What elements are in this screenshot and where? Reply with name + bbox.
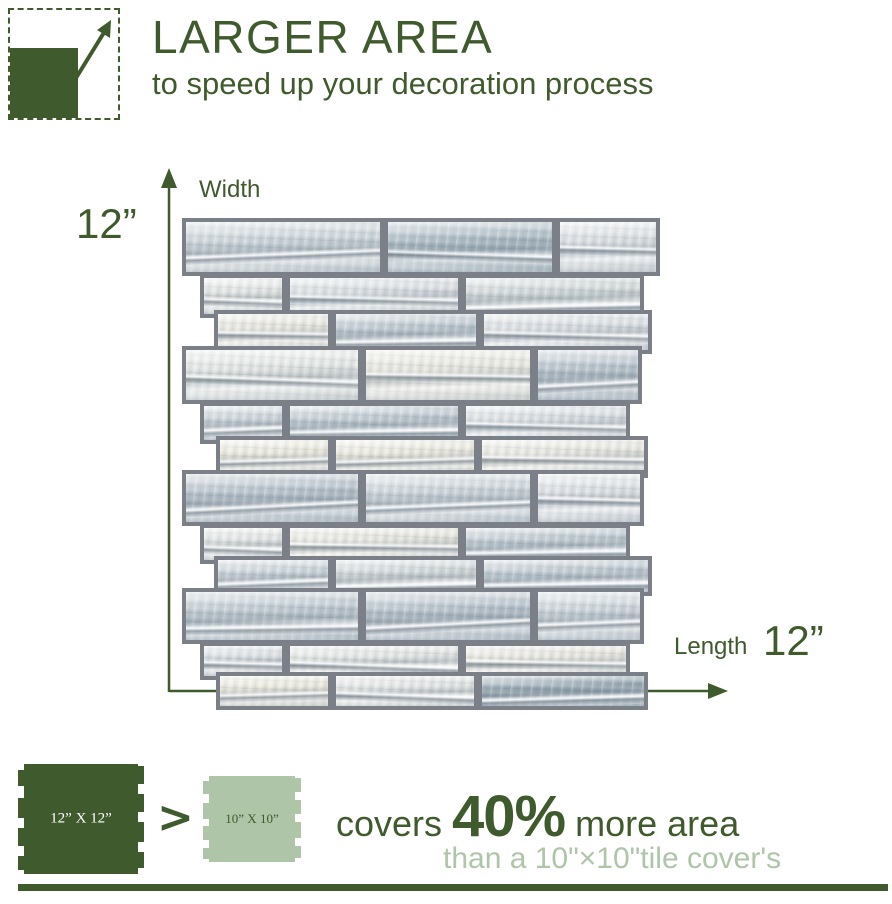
header-banner: LARGER AREA to speed up your decoration … — [0, 0, 892, 136]
dimension-diagram: Width 12” Length 12” — [0, 140, 892, 740]
expand-area-arrow-icon — [8, 8, 120, 120]
header-text-block: LARGER AREA to speed up your decoration … — [152, 10, 872, 104]
stone-mosaic-tile-image — [182, 218, 670, 680]
greater-than-icon: > — [157, 796, 194, 840]
coverage-comparison-block: 12” X 12” > 10” X 10” covers 40% more ar… — [0, 752, 892, 904]
coverage-headline: covers 40% more area — [336, 788, 739, 846]
small-tile-label: 10” X 10” — [203, 811, 301, 827]
length-value-label: 12” — [763, 617, 824, 665]
small-tile-chip: 10” X 10” — [203, 776, 301, 862]
page-title: LARGER AREA — [152, 10, 872, 64]
length-axis-label: Length — [674, 633, 747, 661]
covers-prefix-text: covers — [336, 803, 452, 844]
width-axis-label: Width — [199, 176, 260, 204]
coverage-subtext: than a 10"×10"tile cover's — [443, 842, 781, 876]
coverage-percent: 40% — [452, 784, 565, 849]
page-subtitle: to speed up your decoration process — [152, 64, 872, 104]
width-value-label: 12” — [76, 200, 137, 248]
large-tile-label: 12” X 12” — [18, 811, 144, 828]
covers-suffix-text: more area — [565, 803, 739, 844]
logo-arrow-glyph — [10, 10, 122, 122]
bottom-divider — [18, 884, 888, 891]
large-tile-chip: 12” X 12” — [18, 764, 144, 874]
